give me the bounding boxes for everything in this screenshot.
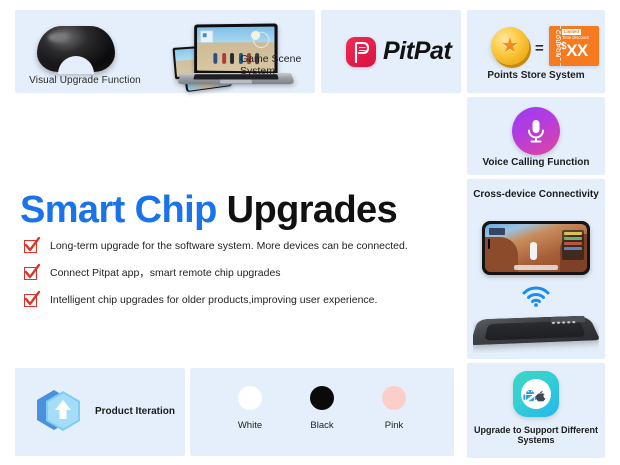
coupon-amount: $XX xyxy=(561,41,588,61)
panel-visual-upgrade: Visual Upgrade Function Game Scene Syste… xyxy=(15,10,315,93)
pitpat-logo-icon xyxy=(346,37,376,67)
color-swatch-pink[interactable]: Pink xyxy=(366,386,422,431)
system-upgrade-caption: Upgrade to Support Different Systems xyxy=(467,425,605,445)
panel-product-iteration: Product Iteration xyxy=(15,368,185,456)
swatch-dot xyxy=(238,386,262,410)
panel-pitpat-brand: PitPat xyxy=(321,10,461,93)
headline-highlight: Smart Chip xyxy=(20,189,217,231)
bullet-text: Long-term upgrade for the software syste… xyxy=(50,240,408,252)
android-apple-compatibility-icon xyxy=(513,371,559,417)
panel-system-upgrade: Upgrade to Support Different Systems xyxy=(467,363,605,458)
list-item: Connect Pitpat app，smart remote chip upg… xyxy=(24,267,454,280)
checkbox-checked-icon xyxy=(24,267,37,280)
treadmill-icon xyxy=(473,301,599,353)
pitpat-wordmark: PitPat xyxy=(383,37,451,66)
color-swatch-white[interactable]: White xyxy=(222,386,278,431)
product-iteration-caption: Product Iteration xyxy=(95,406,181,417)
color-swatch-list: White Black Pink xyxy=(190,386,454,431)
smartphone-game-icon xyxy=(482,221,590,275)
swatch-label: Black xyxy=(294,420,350,431)
equals-sign: = xyxy=(535,40,544,57)
coupon-top-label: Limited Time Discount xyxy=(562,29,596,40)
swatch-dot xyxy=(310,386,334,410)
checkbox-checked-icon xyxy=(24,294,37,307)
swatch-label: Pink xyxy=(366,420,422,431)
gold-coin-star-icon: ★ xyxy=(491,27,529,65)
bullet-text: Connect Pitpat app，smart remote chip upg… xyxy=(50,267,281,279)
points-store-caption: Points Store System xyxy=(467,70,605,81)
checkbox-checked-icon xyxy=(24,240,37,253)
microphone-icon xyxy=(512,107,560,155)
swatch-dot xyxy=(382,386,406,410)
product-feature-infographic: Visual Upgrade Function Game Scene Syste… xyxy=(0,0,620,465)
hexagon-up-arrow-icon xyxy=(33,386,85,440)
list-item: Long-term upgrade for the software syste… xyxy=(24,240,454,253)
panel-points-store: ★ = COUPON Limited Time Discount $XX Poi… xyxy=(467,10,605,93)
headline-rest: Upgrades xyxy=(217,189,397,231)
cross-device-caption: Cross-device Connectivity xyxy=(467,189,605,200)
bullet-text: Intelligent chip upgrades for older prod… xyxy=(50,294,377,306)
panel-color-options: White Black Pink xyxy=(190,368,454,456)
coupon-side-label: COUPON xyxy=(551,30,560,62)
swatch-label: White xyxy=(222,420,278,431)
color-swatch-black[interactable]: Black xyxy=(294,386,350,431)
discount-coupon-icon: COUPON Limited Time Discount $XX xyxy=(549,26,599,66)
voice-calling-caption: Voice Calling Function xyxy=(467,157,605,168)
visual-upgrade-caption: Visual Upgrade Function xyxy=(29,75,141,86)
android-apple-glyphs xyxy=(523,384,549,404)
panel-voice-calling: Voice Calling Function xyxy=(467,97,605,175)
list-item: Intelligent chip upgrades for older prod… xyxy=(24,294,454,307)
feature-bullet-list: Long-term upgrade for the software syste… xyxy=(24,240,454,321)
page-title: Smart Chip Upgrades xyxy=(20,189,397,232)
microphone-glyph xyxy=(524,117,548,145)
pitpat-p-glyph xyxy=(351,41,371,63)
panel-cross-device: Cross-device Connectivity xyxy=(467,179,605,359)
vr-headset-icon xyxy=(37,26,115,72)
